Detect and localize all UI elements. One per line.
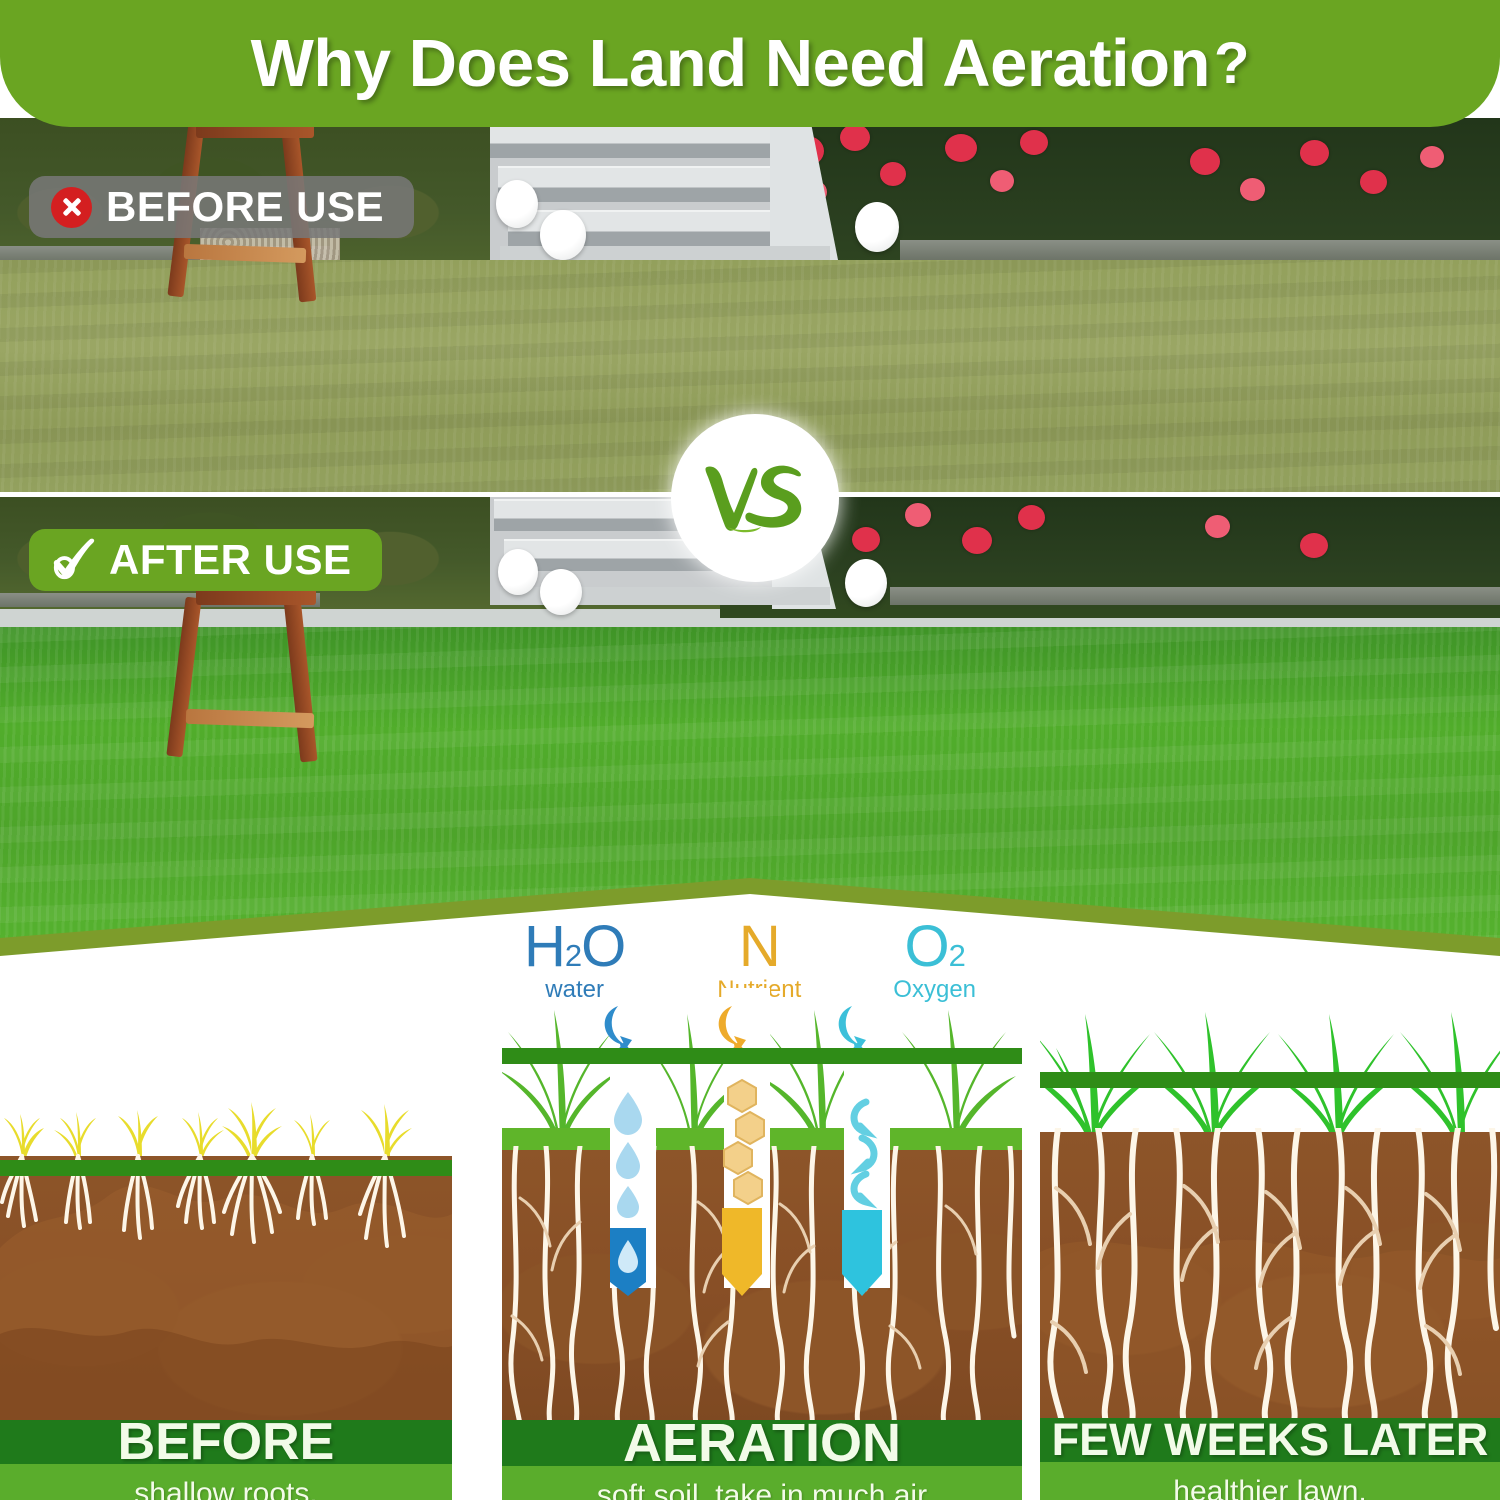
circle-x-icon (51, 187, 92, 228)
rose-bloom (1240, 178, 1265, 201)
globe-lamp (498, 549, 538, 595)
infographic-root: Why Does Land Need Aeration ? (0, 0, 1500, 1500)
page-title: Why Does Land Need Aeration (251, 25, 1210, 102)
garden-wall (900, 240, 1500, 260)
title-question-mark: ? (1214, 30, 1249, 97)
rose-bloom (1420, 146, 1444, 168)
rose-bloom (990, 170, 1014, 192)
panel-title-band: BEFORE (0, 1420, 452, 1464)
page-title-bar: Why Does Land Need Aeration ? (0, 0, 1500, 127)
rose-bloom (880, 162, 906, 186)
panel-title-band: FEW WEEKS LATER (1040, 1418, 1500, 1462)
water-flow-graphic (598, 996, 670, 1296)
rose-bloom (852, 527, 880, 552)
rose-bloom (840, 124, 870, 151)
globe-lamp (496, 180, 538, 228)
panel-title: FEW WEEKS LATER (1052, 1414, 1489, 1466)
rose-bloom (945, 134, 977, 162)
panel-few-weeks-later: FEW WEEKS LATER healthier lawn, lush gra… (1040, 1010, 1500, 1500)
panel-before: BEFORE shallow roots, compact & hard soi… (0, 1100, 452, 1500)
panel-aeration: AERATION soft soil, take in much air wat… (502, 988, 1022, 1500)
turf-strip (0, 1160, 452, 1176)
vs-badge (671, 414, 839, 582)
turf-strip (1040, 1072, 1500, 1088)
panel-title-band: AERATION (502, 1420, 1022, 1466)
oxygen-flow-graphic (832, 996, 904, 1296)
panel-caption-line1: soft soil, take in much air (597, 1479, 927, 1500)
globe-lamp (540, 569, 582, 615)
rose-bloom (1205, 515, 1230, 538)
before-use-badge: BEFORE USE (29, 176, 414, 238)
panel-caption-band: soft soil, take in much air water&nutrie… (502, 1466, 1022, 1500)
rose-bloom (1360, 170, 1387, 194)
rose-bloom (1300, 533, 1328, 558)
step-tread (490, 122, 790, 158)
panel-title: BEFORE (118, 1412, 335, 1472)
globe-lamp (540, 210, 586, 260)
soil-panels: BEFORE shallow roots, compact & hard soi… (0, 860, 1500, 1500)
nutrient-flow-graphic (712, 996, 784, 1296)
after-use-label: AFTER USE (109, 539, 352, 581)
check-brush-icon (51, 537, 97, 583)
panel-caption-line1: shallow roots, (134, 1477, 317, 1500)
turf-strip (502, 1048, 1022, 1064)
rose-bloom (905, 503, 931, 527)
before-use-label: BEFORE USE (106, 186, 384, 228)
globe-lamp (845, 559, 887, 607)
deep-lush-roots (1040, 1128, 1500, 1424)
rose-bloom (1018, 505, 1045, 530)
panel-caption-line1: healthier lawn, (1173, 1475, 1366, 1500)
globe-lamp (855, 202, 899, 252)
panel-title: AERATION (623, 1412, 901, 1474)
rose-bloom (1190, 148, 1220, 175)
panel-caption-band: shallow roots, compact & hard soil (0, 1464, 452, 1500)
panel-caption-band: healthier lawn, lush grass (1040, 1462, 1500, 1500)
vs-brush-icon (699, 457, 811, 539)
garden-wall (890, 587, 1500, 605)
after-use-badge: AFTER USE (29, 529, 382, 591)
step-tread (498, 166, 790, 202)
aeration-infographic: H2O water N Nutrient O2 Oxygen (0, 860, 1500, 1500)
rose-bloom (1020, 130, 1048, 155)
rose-bloom (962, 527, 992, 554)
rose-bloom (1300, 140, 1329, 166)
